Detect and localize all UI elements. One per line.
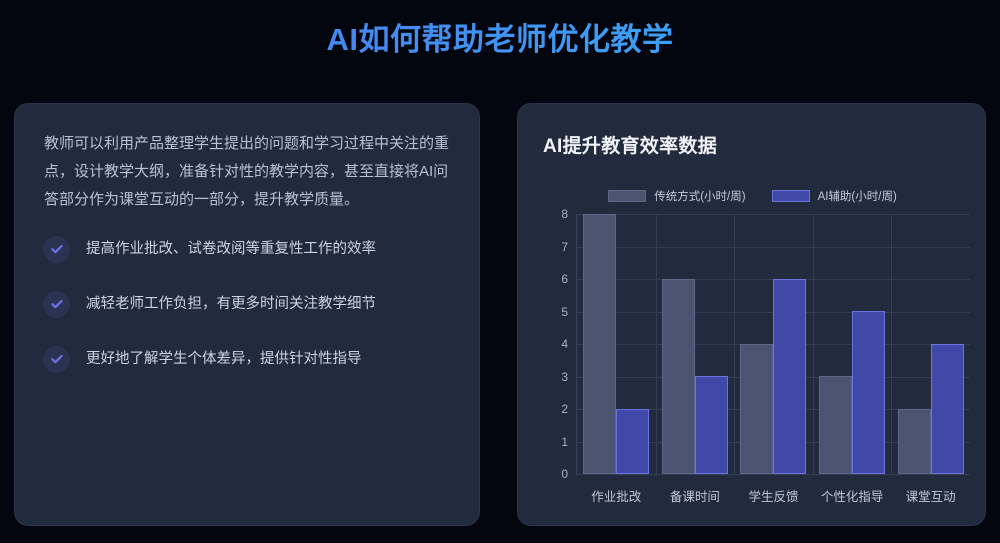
chart-legend: 传统方式(小时/周) AI辅助(小时/周) — [518, 188, 987, 204]
y-axis-tick-label: 1 — [561, 435, 568, 449]
description-panel: 教师可以利用产品整理学生提出的问题和学习过程中关注的重点，设计教学大纲，准备针对… — [14, 103, 480, 526]
benefit-list: 提高作业批改、试卷改阅等重复性工作的效率 减轻老师工作负担，有更多时间关注教学细… — [43, 226, 455, 391]
y-axis-tick-label: 6 — [561, 272, 568, 286]
bar-traditional[interactable] — [662, 279, 695, 474]
list-item: 提高作业批改、试卷改阅等重复性工作的效率 — [43, 226, 455, 272]
bar-ai[interactable] — [852, 311, 885, 474]
y-axis-tick-label: 0 — [561, 467, 568, 481]
chart-plot-area: 012345678作业批改备课时间学生反馈个性化指导课堂互动 — [576, 214, 970, 475]
slide-root: AI如何帮助老师优化教学 教师可以利用产品整理学生提出的问题和学习过程中关注的重… — [0, 0, 1000, 543]
legend-entry-traditional: 传统方式(小时/周) — [608, 188, 745, 204]
list-item-label: 更好地了解学生个体差异，提供针对性指导 — [86, 349, 362, 369]
y-axis-tick-label: 7 — [561, 240, 568, 254]
chart-panel: AI提升教育效率数据 传统方式(小时/周) AI辅助(小时/周) 0123456… — [517, 103, 986, 526]
check-circle-icon — [43, 236, 70, 263]
x-axis-tick-label: 个性化指导 — [821, 486, 884, 505]
bar-ai[interactable] — [931, 344, 964, 474]
list-item-label: 减轻老师工作负担，有更多时间关注教学细节 — [86, 294, 376, 314]
x-axis-tick-label: 作业批改 — [591, 486, 641, 505]
grid-line — [577, 474, 970, 475]
x-axis-tick-label: 学生反馈 — [748, 486, 798, 505]
x-axis-tick-label: 课堂互动 — [906, 486, 956, 505]
x-axis-tick-label: 备课时间 — [670, 486, 720, 505]
bar-group: 课堂互动 — [891, 214, 970, 474]
y-axis-tick-label: 2 — [561, 402, 568, 416]
bar-group: 个性化指导 — [813, 214, 892, 474]
bar-group: 作业批改 — [577, 214, 656, 474]
bar-traditional[interactable] — [583, 214, 616, 474]
bar-ai[interactable] — [773, 279, 806, 474]
bar-traditional[interactable] — [819, 376, 852, 474]
legend-swatch-traditional — [608, 190, 646, 202]
chart-title: AI提升教育效率数据 — [543, 131, 717, 158]
bar-ai[interactable] — [695, 376, 728, 474]
check-circle-icon — [43, 291, 70, 318]
bar-ai[interactable] — [616, 409, 649, 474]
list-item: 更好地了解学生个体差异，提供针对性指导 — [43, 336, 455, 382]
y-axis-tick-label: 4 — [561, 337, 568, 351]
legend-label-ai: AI辅助(小时/周) — [818, 188, 897, 204]
y-axis-tick-label: 8 — [561, 207, 568, 221]
bar-traditional[interactable] — [740, 344, 773, 474]
page-title: AI如何帮助老师优化教学 — [0, 14, 1000, 59]
y-axis-tick-label: 3 — [561, 370, 568, 384]
list-item: 减轻老师工作负担，有更多时间关注教学细节 — [43, 281, 455, 327]
bar-group: 学生反馈 — [734, 214, 813, 474]
legend-entry-ai: AI辅助(小时/周) — [772, 188, 897, 204]
list-item-label: 提高作业批改、试卷改阅等重复性工作的效率 — [86, 239, 376, 259]
bar-group: 备课时间 — [656, 214, 735, 474]
legend-swatch-ai — [772, 190, 810, 202]
check-circle-icon — [43, 346, 70, 373]
intro-paragraph: 教师可以利用产品整理学生提出的问题和学习过程中关注的重点，设计教学大纲，准备针对… — [44, 130, 450, 214]
y-axis-tick-label: 5 — [561, 305, 568, 319]
bar-traditional[interactable] — [898, 409, 931, 474]
legend-label-traditional: 传统方式(小时/周) — [654, 188, 745, 204]
